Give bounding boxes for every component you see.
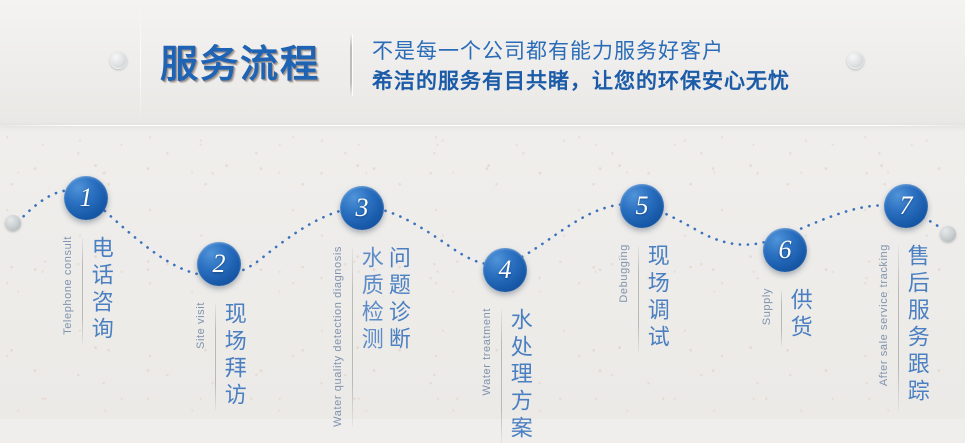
step-7-marker[interactable]: 7 [884,184,928,228]
step-2-marker[interactable]: 2 [197,242,241,286]
banner-inner-edge [140,0,141,126]
step-5-number: 5 [636,193,649,219]
step-7-label-separator [898,246,899,411]
step-2-label-cn: 现场拜访 [223,302,246,410]
step-1-marker[interactable]: 1 [64,176,108,220]
step-4-label-separator [501,310,502,443]
path-end-dot [940,226,956,242]
step-3-label-separator [352,248,353,427]
step-3-marker[interactable]: 3 [340,186,384,230]
step-2-label-en: Site visit [195,302,208,349]
step-1-label-separator [82,238,83,344]
service-flow-diagram: 1 电话咨询 Telephone consult 2 现场拜访 Site vis… [0,126,965,419]
decorative-dot-left [110,52,127,69]
step-2-number: 2 [213,251,226,277]
step-7-label-cn: 售后服务跟踪 [906,244,929,406]
step-3-label-group: 问题诊断 水质检测 Water quality detection diagno… [332,246,410,427]
step-3-label-en: Water quality detection diagnosis [332,246,345,427]
step-1-label-group: 电话咨询 Telephone consult [62,236,113,344]
step-4-number: 4 [499,257,512,283]
step-6-label-en: Supply [761,288,774,325]
step-1-number: 1 [80,185,93,211]
step-1-label-cn: 电话咨询 [90,236,113,344]
header-banner: 服务流程 不是每一个公司都有能力服务好客户 希洁的服务有目共睹，让您的环保安心无… [0,0,965,126]
step-5-label-en: Debugging [618,244,631,303]
step-6-marker[interactable]: 6 [763,228,807,272]
step-5-label-separator [638,246,639,352]
step-6-label-group: 供货 Supply [761,288,812,346]
page-title: 服务流程 [160,33,320,88]
step-7-label-en: After sale service tracking [878,244,891,386]
step-1-label-en: Telephone consult [62,236,75,335]
step-5-label-cn: 现场调试 [646,244,669,352]
step-3-label-cn: 问题诊断 [387,246,410,354]
step-2-label-group: 现场拜访 Site visit [195,302,246,410]
title-divider [350,34,352,96]
subtitle-line-1: 不是每一个公司都有能力服务好客户 [372,38,790,66]
step-5-marker[interactable]: 5 [620,184,664,228]
step-7-number: 7 [900,193,913,219]
step-5-label-group: 现场调试 Debugging [618,244,669,352]
header-subtitle: 不是每一个公司都有能力服务好客户 希洁的服务有目共睹，让您的环保安心无忧 [372,38,790,97]
step-4-label-group: 水处理方案 Water treatment [481,308,532,443]
step-7-label-group: 售后服务跟踪 After sale service tracking [878,244,929,411]
step-3-number: 3 [356,195,369,221]
step-4-label-en: Water treatment [481,308,494,395]
path-start-dot [5,215,21,231]
subtitle-line-2: 希洁的服务有目共睹，让您的环保安心无忧 [372,66,790,97]
step-6-label-cn: 供货 [789,288,812,342]
step-6-number: 6 [779,237,792,263]
step-3-label-cn-secondary: 水质检测 [360,246,383,354]
step-2-label-separator [215,304,216,410]
step-4-label-cn: 水处理方案 [509,308,532,443]
step-6-label-separator [781,290,782,346]
decorative-dot-right [847,52,864,69]
step-4-marker[interactable]: 4 [483,248,527,292]
